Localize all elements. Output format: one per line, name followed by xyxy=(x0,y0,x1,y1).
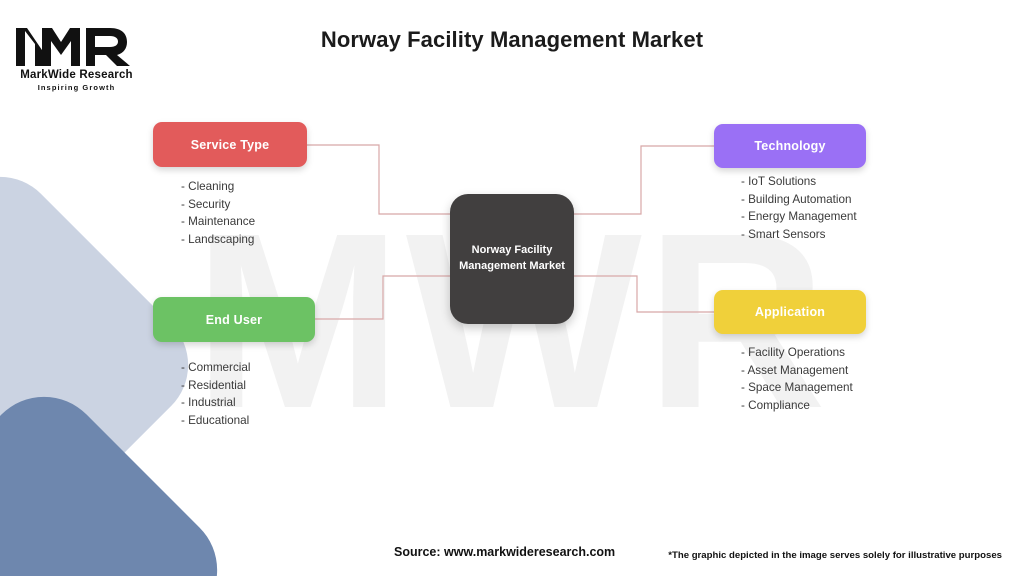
connector-application xyxy=(574,276,714,312)
center-node-line2: Management Market xyxy=(459,260,565,272)
center-node-line1: Norway Facility xyxy=(472,244,553,256)
list-item: - Energy Management xyxy=(741,208,857,226)
list-item: - Asset Management xyxy=(741,362,853,380)
center-node[interactable]: Norway Facility Management Market xyxy=(450,194,574,324)
list-item: - Maintenance xyxy=(181,213,255,231)
list-item: - Landscaping xyxy=(181,231,255,249)
connector-end-user xyxy=(315,276,450,319)
branch-items-application: - Facility Operations - Asset Management… xyxy=(741,344,853,414)
branch-items-technology: - IoT Solutions - Building Automation - … xyxy=(741,173,857,243)
branch-node-application[interactable]: Application xyxy=(714,290,866,334)
connector-service-type xyxy=(307,145,450,214)
branch-node-end-user[interactable]: End User xyxy=(153,297,315,342)
list-item: - Security xyxy=(181,196,255,214)
branch-label-application: Application xyxy=(755,305,825,319)
list-item: - Educational xyxy=(181,412,250,430)
branch-label-service-type: Service Type xyxy=(191,138,270,152)
list-item: - Facility Operations xyxy=(741,344,853,362)
branch-items-end-user: - Commercial - Residential - Industrial … xyxy=(181,359,250,429)
list-item: - Smart Sensors xyxy=(741,226,857,244)
branch-node-technology[interactable]: Technology xyxy=(714,124,866,168)
list-item: - Cleaning xyxy=(181,178,255,196)
list-item: - Commercial xyxy=(181,359,250,377)
connector-technology xyxy=(574,146,714,214)
branch-items-service-type: - Cleaning - Security - Maintenance - La… xyxy=(181,178,255,248)
list-item: - Building Automation xyxy=(741,191,857,209)
disclaimer-label: *The graphic depicted in the image serve… xyxy=(668,550,1002,561)
list-item: - Compliance xyxy=(741,397,853,415)
list-item: - Industrial xyxy=(181,394,250,412)
branch-label-end-user: End User xyxy=(206,313,262,327)
branch-label-technology: Technology xyxy=(754,139,825,153)
source-label: Source: www.markwideresearch.com xyxy=(394,545,615,559)
center-node-label: Norway Facility Management Market xyxy=(459,243,565,275)
diagram-canvas: MWR MarkWide Research Inspiring Growth N… xyxy=(0,0,1024,576)
branch-node-service-type[interactable]: Service Type xyxy=(153,122,307,167)
list-item: - Space Management xyxy=(741,379,853,397)
list-item: - IoT Solutions xyxy=(741,173,857,191)
list-item: - Residential xyxy=(181,377,250,395)
